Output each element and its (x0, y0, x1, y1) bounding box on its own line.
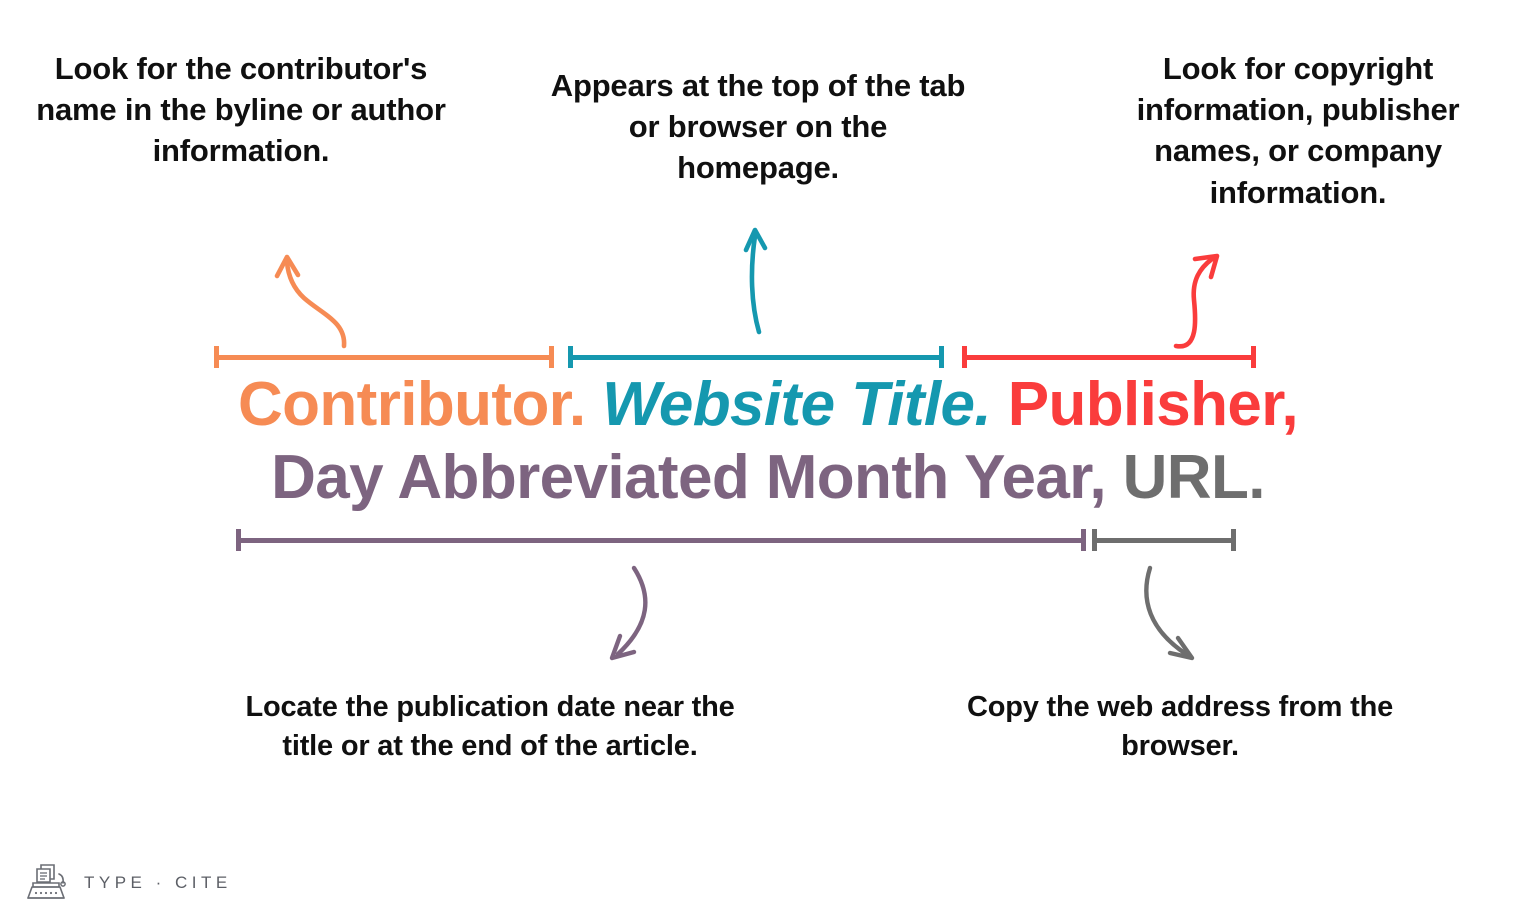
bracket-cap-right (1081, 529, 1086, 551)
brand-logo: TYPE · CITE (24, 862, 232, 904)
note-website-title: Appears at the top of the tab or browser… (548, 65, 968, 189)
note-date: Locate the publication date near the tit… (222, 688, 758, 765)
brand-name: TYPE · CITE (84, 873, 232, 893)
bracket-website-title (568, 346, 944, 368)
arrow-publisher-icon (1164, 246, 1256, 352)
citation-part-publisher: Publisher, (1008, 370, 1298, 439)
citation-diagram: Look for the contributor's name in the b… (0, 0, 1536, 922)
note-contributor: Look for the contributor's name in the b… (36, 48, 446, 172)
citation-line-1: Contributor. Website Title. Publisher, (0, 368, 1536, 441)
citation-part-contributor: Contributor. (238, 370, 586, 439)
citation-part-date: Day Abbreviated Month Year, (271, 443, 1106, 512)
citation-line-2: Day Abbreviated Month Year, URL. (0, 441, 1536, 514)
arrow-url-icon (1128, 560, 1228, 672)
citation-part-website-title: Website Title. (602, 370, 991, 439)
typewriter-icon (24, 862, 70, 904)
note-publisher: Look for copyright information, publishe… (1098, 48, 1498, 213)
bracket-rule (236, 538, 1086, 543)
bracket-cap-right (939, 346, 944, 368)
arrow-contributor-icon (262, 248, 392, 354)
bracket-url (1092, 529, 1236, 551)
bracket-rule (214, 355, 554, 360)
bracket-cap-right (1231, 529, 1236, 551)
bracket-rule (568, 355, 944, 360)
citation-part-url: URL. (1123, 443, 1265, 512)
bracket-cap-right (1251, 346, 1256, 368)
bracket-contributor (214, 346, 554, 368)
bracket-rule (962, 355, 1256, 360)
arrow-website-title-icon (726, 218, 796, 338)
arrow-date-icon (576, 560, 676, 672)
bracket-date (236, 529, 1086, 551)
bracket-publisher (962, 346, 1256, 368)
bracket-cap-right (549, 346, 554, 368)
note-url: Copy the web address from the browser. (922, 688, 1438, 765)
bracket-rule (1092, 538, 1236, 543)
citation-formula: Contributor. Website Title. Publisher, D… (0, 368, 1536, 514)
